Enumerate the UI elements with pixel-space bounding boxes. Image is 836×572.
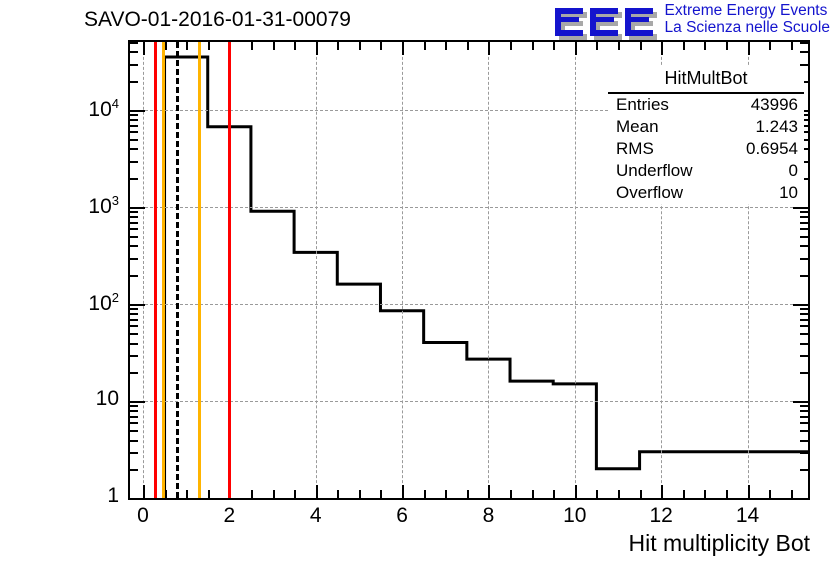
- axis-tick: [130, 178, 138, 180]
- axis-tick: [130, 51, 138, 53]
- axis-tick: [130, 222, 138, 224]
- axis-tick: [510, 490, 512, 498]
- stats-row: Overflow10: [608, 182, 804, 204]
- axis-tick: [800, 325, 808, 327]
- axis-tick: [130, 258, 138, 260]
- axis-tick: [793, 207, 808, 209]
- x-tick-label: 14: [736, 504, 759, 528]
- axis-tick: [130, 207, 145, 209]
- stats-row-key: RMS: [616, 139, 654, 159]
- axis-tick: [800, 228, 808, 230]
- stats-row-key: Mean: [616, 117, 659, 137]
- axis-tick: [251, 42, 253, 50]
- logo-tagline-line1: Extreme Energy Events: [665, 2, 830, 19]
- axis-tick: [273, 42, 275, 50]
- logo-letter-e-1: [555, 4, 583, 32]
- axis-tick: [800, 216, 808, 218]
- axis-tick: [130, 148, 138, 150]
- x-tick-label: 6: [396, 504, 408, 528]
- axis-tick: [488, 485, 490, 498]
- axis-tick: [294, 490, 296, 498]
- axis-tick: [130, 275, 138, 277]
- axis-tick: [337, 42, 339, 50]
- logo-letter-e-3: [625, 4, 653, 32]
- axis-tick: [800, 313, 808, 315]
- axis-tick: [208, 42, 210, 50]
- stats-row: Underflow0: [608, 160, 804, 182]
- axis-tick: [130, 139, 138, 141]
- axis-tick: [130, 211, 138, 213]
- y-tick-label: 104: [88, 96, 119, 122]
- axis-tick: [800, 372, 808, 374]
- axis-tick: [532, 490, 534, 498]
- axis-tick: [130, 440, 138, 442]
- axis-tick: [748, 42, 750, 55]
- axis-tick: [800, 430, 808, 432]
- axis-tick: [791, 42, 793, 50]
- axis-tick: [769, 42, 771, 50]
- axis-tick: [130, 430, 138, 432]
- axis-tick: [596, 42, 598, 50]
- axis-tick: [793, 401, 808, 403]
- axis-tick: [130, 131, 138, 133]
- axis-tick: [359, 42, 361, 50]
- axis-tick: [683, 42, 685, 50]
- axis-tick: [130, 119, 138, 121]
- axis-tick: [800, 222, 808, 224]
- axis-tick: [130, 410, 138, 412]
- stats-row: Entries43996: [608, 94, 804, 116]
- axis-tick: [791, 490, 793, 498]
- axis-tick: [800, 422, 808, 424]
- stats-row-value: 0: [789, 161, 798, 181]
- page-title: SAVO-01-2016-01-31-00079: [84, 8, 351, 32]
- axis-tick: [130, 81, 138, 83]
- axis-tick: [294, 42, 296, 50]
- axis-tick: [130, 161, 138, 163]
- axis-tick: [800, 245, 808, 247]
- axis-tick: [130, 319, 138, 321]
- axis-tick: [575, 42, 577, 55]
- axis-tick: [800, 410, 808, 412]
- axis-tick: [793, 498, 808, 500]
- axis-tick: [130, 416, 138, 418]
- axis-tick: [130, 355, 138, 357]
- axis-tick: [800, 343, 808, 345]
- axis-tick: [800, 333, 808, 335]
- axis-tick: [661, 42, 663, 55]
- axis-tick: [800, 42, 808, 44]
- axis-tick: [130, 333, 138, 335]
- axis-tick: [800, 416, 808, 418]
- marker-line-orange-low: [162, 42, 165, 498]
- axis-tick: [359, 490, 361, 498]
- axis-tick: [186, 490, 188, 498]
- axis-tick: [726, 490, 728, 498]
- axis-tick: [726, 42, 728, 50]
- axis-tick: [130, 236, 138, 238]
- axis-tick: [130, 216, 138, 218]
- axis-tick: [661, 485, 663, 498]
- axis-tick: [800, 355, 808, 357]
- axis-tick: [130, 422, 138, 424]
- axis-tick: [316, 485, 318, 498]
- axis-tick: [510, 42, 512, 50]
- axis-tick: [800, 236, 808, 238]
- axis-tick: [800, 308, 808, 310]
- x-tick-label: 0: [137, 504, 149, 528]
- eee-logo: Extreme Energy Events La Scienza nelle S…: [555, 2, 830, 38]
- stats-box-title: HitMultBot: [608, 66, 804, 94]
- axis-tick: [683, 490, 685, 498]
- axis-tick: [467, 42, 469, 50]
- axis-tick: [130, 452, 138, 454]
- logo-tagline-line2: La Scienza nelle Scuole: [665, 19, 830, 36]
- axis-tick: [186, 42, 188, 50]
- stats-row-value: 1.243: [755, 117, 798, 137]
- stats-row-value: 43996: [751, 95, 798, 115]
- axis-tick: [130, 405, 138, 407]
- axis-tick: [380, 42, 382, 50]
- axis-tick: [800, 258, 808, 260]
- stats-row-key: Overflow: [616, 183, 683, 203]
- axis-tick: [800, 319, 808, 321]
- stats-box-rows: Entries43996Mean1.243RMS0.6954Underflow0…: [608, 94, 804, 204]
- axis-tick: [402, 485, 404, 498]
- axis-tick: [337, 490, 339, 498]
- marker-line-orange-high: [198, 42, 201, 498]
- axis-tick: [130, 110, 145, 112]
- axis-tick: [251, 490, 253, 498]
- axis-tick: [130, 325, 138, 327]
- axis-tick: [640, 490, 642, 498]
- x-tick-label: 8: [483, 504, 495, 528]
- axis-tick: [424, 490, 426, 498]
- logo-letter-e-2: [590, 4, 618, 32]
- axis-tick: [800, 440, 808, 442]
- axis-tick: [130, 343, 138, 345]
- axis-tick: [800, 211, 808, 213]
- axis-tick: [130, 42, 138, 44]
- axis-tick: [130, 469, 138, 471]
- axis-tick: [130, 308, 138, 310]
- axis-tick: [273, 490, 275, 498]
- axis-tick: [596, 490, 598, 498]
- axis-tick: [488, 42, 490, 55]
- axis-tick: [769, 490, 771, 498]
- marker-line-mean-line: [176, 42, 179, 498]
- axis-tick: [143, 485, 145, 498]
- axis-tick: [380, 490, 382, 498]
- x-axis-title: Hit multiplicity Bot: [629, 530, 810, 557]
- axis-tick: [130, 228, 138, 230]
- axis-tick: [445, 490, 447, 498]
- x-tick-label: 4: [310, 504, 322, 528]
- axis-tick: [532, 42, 534, 50]
- axis-tick: [130, 64, 138, 66]
- stats-row-key: Entries: [616, 95, 669, 115]
- axis-tick: [130, 313, 138, 315]
- gridline-horizontal: [130, 401, 808, 402]
- axis-tick: [793, 304, 808, 306]
- marker-line-red-low: [154, 42, 157, 498]
- gridline-horizontal: [130, 207, 808, 208]
- x-tick-label: 2: [223, 504, 235, 528]
- axis-tick: [316, 42, 318, 55]
- stats-row-value: 10: [779, 183, 798, 203]
- marker-line-red-high: [228, 42, 231, 498]
- stats-row-key: Underflow: [616, 161, 693, 181]
- axis-tick: [800, 51, 808, 53]
- axis-tick: [208, 490, 210, 498]
- axis-tick: [424, 42, 426, 50]
- axis-tick: [402, 42, 404, 55]
- stats-box: HitMultBot Entries43996Mean1.243RMS0.695…: [608, 66, 804, 204]
- axis-tick: [130, 125, 138, 127]
- stats-row-value: 0.6954: [746, 139, 798, 159]
- plot-canvas: SAVO-01-2016-01-31-00079: [0, 0, 836, 572]
- axis-tick: [553, 42, 555, 50]
- axis-tick: [704, 490, 706, 498]
- axis-tick: [130, 401, 145, 403]
- axis-tick: [800, 469, 808, 471]
- axis-tick: [130, 304, 145, 306]
- y-tick-label: 102: [88, 290, 119, 316]
- stats-row: RMS0.6954: [608, 138, 804, 160]
- axis-tick: [800, 275, 808, 277]
- axis-tick: [704, 42, 706, 50]
- axis-tick: [130, 372, 138, 374]
- y-tick-label: 10: [96, 387, 119, 411]
- axis-tick: [575, 485, 577, 498]
- axis-tick: [748, 485, 750, 498]
- axis-tick: [130, 245, 138, 247]
- axis-tick: [143, 42, 145, 55]
- axis-tick: [618, 42, 620, 50]
- eee-logo-text: Extreme Energy Events La Scienza nelle S…: [665, 2, 830, 36]
- axis-tick: [130, 114, 138, 116]
- axis-tick: [445, 42, 447, 50]
- stats-row: Mean1.243: [608, 116, 804, 138]
- axis-tick: [640, 42, 642, 50]
- axis-tick: [618, 490, 620, 498]
- eee-logo-glyphs: [555, 2, 659, 36]
- axis-tick: [553, 490, 555, 498]
- axis-tick: [800, 452, 808, 454]
- x-tick-label: 12: [649, 504, 672, 528]
- axis-tick: [130, 498, 145, 500]
- gridline-horizontal: [130, 304, 808, 305]
- y-tick-label: 103: [88, 193, 119, 219]
- axis-tick: [467, 490, 469, 498]
- axis-tick: [800, 405, 808, 407]
- y-tick-label: 1: [107, 484, 119, 508]
- x-tick-label: 10: [563, 504, 586, 528]
